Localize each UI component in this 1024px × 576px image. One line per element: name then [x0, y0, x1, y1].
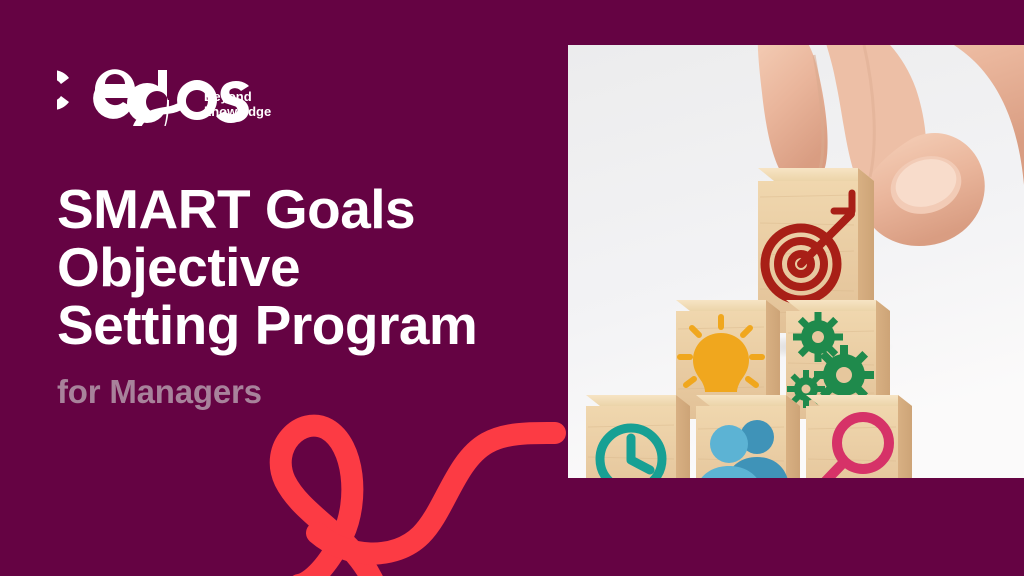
logo-tagline-line1: Beyond [204, 89, 252, 104]
block-people [694, 395, 800, 478]
block-magnifier [806, 395, 912, 478]
marketing-banner: Beyond knowledge SMART Goals Objective S… [0, 0, 1024, 576]
headline-line-1: SMART Goals [57, 180, 557, 238]
headline-line-3: Setting Program [57, 296, 557, 354]
headline: SMART Goals Objective Setting Program [57, 180, 557, 354]
red-loop-swoosh [255, 385, 575, 576]
cegos-logo: Beyond knowledge [57, 46, 287, 126]
subtitle: for Managers [57, 373, 262, 411]
block-clock [586, 395, 690, 478]
headline-line-2: Objective [57, 238, 557, 296]
logo-tagline-line2: knowledge [204, 104, 271, 119]
hero-photo [568, 45, 1024, 478]
